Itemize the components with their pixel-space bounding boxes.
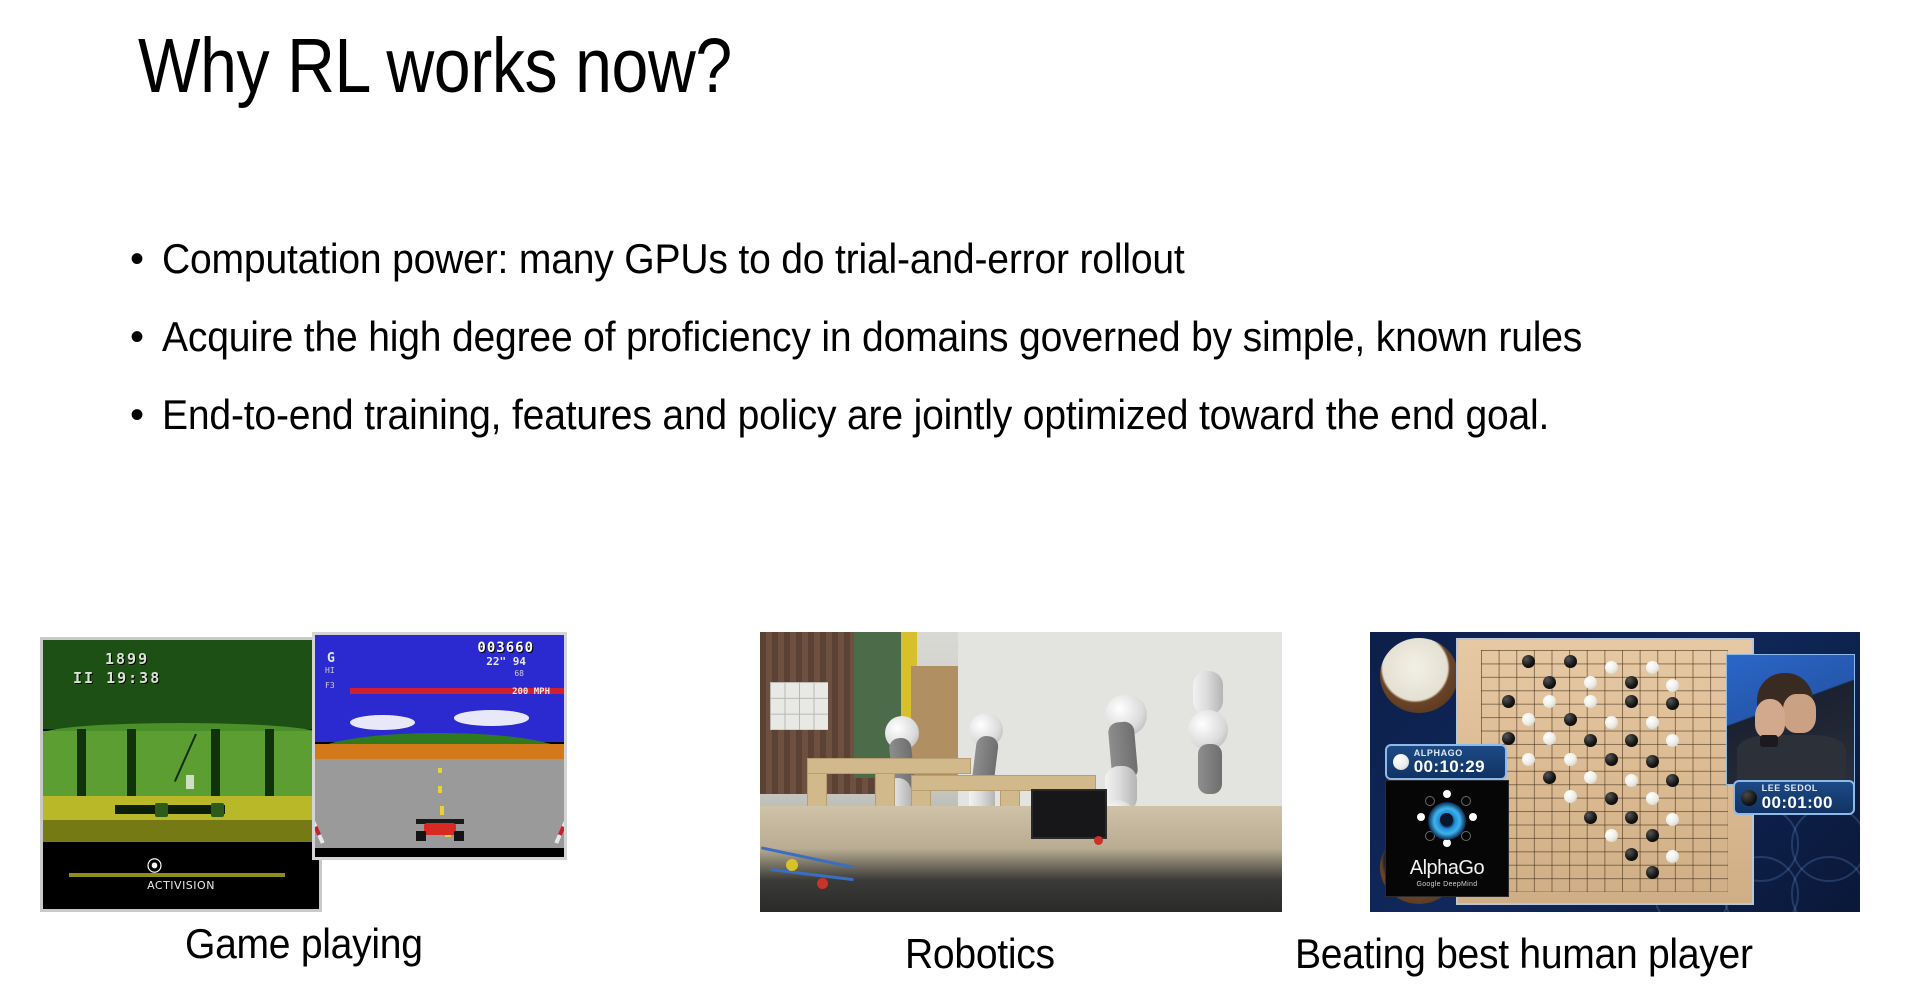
lee-sedol-clock-value: 00:01:00 — [1762, 794, 1833, 812]
atari-player-sprite — [186, 775, 194, 789]
black-stone-icon — [1741, 790, 1757, 806]
list-item: • End-to-end training, features and poli… — [126, 384, 1806, 446]
atari-dirt — [43, 820, 319, 842]
car-tyre — [416, 831, 426, 841]
caption-game-playing: Game playing — [185, 920, 423, 968]
tree-trunk — [265, 729, 274, 799]
robot-arm-link — [1198, 744, 1222, 794]
figure-row: 1899 II 19:38 ⦿ ACTIVISION 003660 G HI F… — [0, 632, 1920, 912]
white-stone-bowl — [1380, 638, 1458, 714]
lab-table — [760, 806, 1282, 912]
atari-brand-divider — [69, 873, 285, 877]
yellow-marker — [786, 859, 798, 871]
alphago-logo-panel: AlphaGo Google DeepMind — [1385, 780, 1510, 897]
robotics-photo — [760, 632, 1282, 912]
alphago-clock-value: 00:10:29 — [1414, 758, 1485, 776]
car-tyre — [454, 831, 464, 841]
caption-alphago: Beating best human player — [1295, 930, 1753, 978]
alphago-broadcast-photo: ALPHAGO 00:10:29 AlphaGo Google DeepMind — [1370, 632, 1860, 912]
lee-sedol-hand — [1755, 699, 1786, 738]
alphago-clock: ALPHAGO 00:10:29 — [1385, 744, 1508, 780]
atari-lives-marker: II — [73, 669, 95, 687]
bullet-dot-icon: • — [126, 384, 162, 446]
page-title: Why RL works now? — [138, 28, 732, 105]
atari-brand-label: ACTIVISION — [43, 879, 319, 892]
racing-lane-dash — [438, 786, 442, 793]
tree-trunk — [127, 729, 136, 799]
atari-pitfall-screenshot: 1899 II 19:38 ⦿ ACTIVISION — [40, 637, 322, 912]
go-board-grid — [1481, 650, 1728, 892]
deepmind-sublabel: Google DeepMind — [1416, 881, 1477, 888]
lee-sedol-watch — [1760, 735, 1778, 747]
list-item: • Computation power: many GPUs to do tri… — [126, 228, 1806, 290]
wooden-beam — [807, 758, 971, 774]
racing-lane-dash — [440, 806, 444, 815]
atari-score-value: 1899 — [105, 650, 149, 668]
bullet-text: End-to-end training, features and policy… — [162, 384, 1691, 446]
tree-trunk — [77, 729, 86, 799]
car-body — [424, 823, 456, 835]
atari-crocodile — [155, 803, 168, 817]
atari-clock: 19:38 — [106, 669, 161, 687]
atari-timer-value: II 19:38 — [73, 669, 161, 687]
lee-sedol-body — [1737, 735, 1847, 784]
racing-score-value: 003660 — [477, 640, 534, 656]
racing-speed-value: 200 MPH — [512, 687, 550, 697]
wall-grid-panel — [770, 682, 827, 730]
bullet-dot-icon: • — [126, 306, 162, 368]
atari-crocodile — [211, 803, 224, 817]
bullet-list: • Computation power: many GPUs to do tri… — [126, 228, 1806, 462]
atari-racing-screenshot: 003660 G HI F3 22" 94 68 200 MPH — [312, 632, 567, 860]
racing-gear-value: G — [327, 651, 335, 666]
atari-log — [115, 805, 225, 814]
racing-gear-label: HI — [325, 666, 335, 675]
caption-robotics: Robotics — [905, 930, 1055, 978]
lee-sedol-clock: LEE SEDOL 00:01:00 — [1733, 780, 1856, 815]
list-item: • Acquire the high degree of proficiency… — [126, 306, 1806, 368]
racing-lap-label: F3 — [325, 681, 335, 690]
bullet-dot-icon: • — [126, 228, 162, 290]
bullet-text: Acquire the high degree of proficiency i… — [162, 306, 1691, 368]
tree-trunk — [211, 729, 220, 799]
monitor-screen — [1031, 789, 1107, 839]
racing-bottom-bar — [315, 848, 564, 857]
bullet-text: Computation power: many GPUs to do trial… — [162, 228, 1691, 290]
racing-player-car — [416, 819, 464, 841]
alphago-logo-text: AlphaGo — [1410, 857, 1484, 880]
racing-lane-dash — [438, 768, 442, 773]
lee-sedol-face — [1783, 694, 1816, 733]
racing-time-label: 68 — [514, 669, 524, 678]
white-stone-icon — [1393, 754, 1409, 770]
racing-time-value: 22" 94 — [486, 655, 526, 668]
racing-cloud — [454, 710, 529, 726]
robot-arm-link — [1193, 671, 1223, 715]
lee-sedol-video-inset — [1726, 654, 1855, 785]
deepmind-swirl-icon — [1428, 802, 1466, 840]
